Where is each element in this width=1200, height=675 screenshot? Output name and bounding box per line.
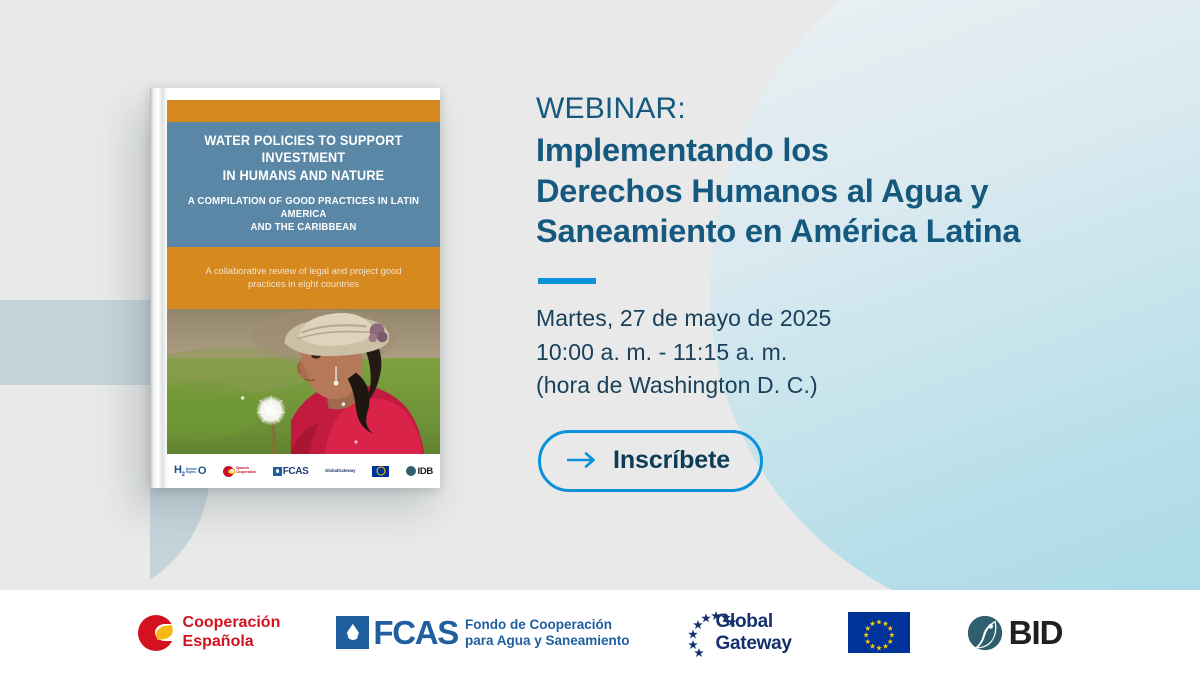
global-gateway-icon: Global Gateway bbox=[325, 469, 355, 474]
cover-title-line-2: IN HUMANS AND NATURE bbox=[185, 167, 423, 184]
cooperacion-espanola-logo: Cooperación Española bbox=[138, 614, 281, 651]
page-title: Implementando los Derechos Humanos al Ag… bbox=[536, 130, 1156, 253]
book-spine bbox=[150, 88, 167, 488]
webinar-kicker: WEBINAR: bbox=[536, 92, 1156, 126]
register-button[interactable]: Inscríbete bbox=[538, 430, 763, 492]
european-union-flag-icon bbox=[372, 466, 389, 477]
cooperacion-espanola-icon: Spanish Cooperation bbox=[223, 466, 256, 477]
event-timezone: (hora de Washington D. C.) bbox=[536, 369, 1156, 402]
fcas-icon: FCAS bbox=[273, 466, 309, 477]
content-column: WEBINAR: Implementando los Derechos Huma… bbox=[536, 92, 1156, 492]
fcas-tag-line-1: Fondo de Cooperación bbox=[465, 617, 612, 632]
h2o-tag-2: Rights bbox=[186, 470, 196, 474]
ce-mini-line-2: Cooperation bbox=[236, 470, 256, 474]
fcas-tag-line-2: para Agua y Saneamiento bbox=[465, 633, 630, 648]
book-mockup: WATER POLICIES TO SUPPORT INVESTMENT IN … bbox=[150, 88, 440, 488]
headline-line-2: Derechos Humanos al Agua y bbox=[536, 171, 1156, 212]
book-cover: WATER POLICIES TO SUPPORT INVESTMENT IN … bbox=[150, 88, 440, 488]
cover-top-white-strip bbox=[167, 88, 440, 100]
fcas-word: FCAS bbox=[373, 614, 458, 652]
bid-logo: BID bbox=[966, 614, 1063, 652]
gg-mini-line-2: Gateway bbox=[338, 469, 355, 474]
fcas-mini-word: FCAS bbox=[283, 466, 309, 477]
headline-line-1: Implementando los bbox=[536, 130, 1156, 171]
cover-orange-top-band bbox=[167, 100, 440, 122]
headline-line-3: Saneamiento en América Latina bbox=[536, 211, 1156, 252]
bid-mark-icon bbox=[966, 614, 1004, 652]
accent-divider bbox=[538, 278, 596, 284]
global-gateway-stars-icon bbox=[686, 611, 748, 657]
cover-logo-strip: H2 Human Rights O Spanish Cooperation bbox=[167, 454, 440, 488]
event-details: Martes, 27 de mayo de 2025 10:00 a. m. -… bbox=[536, 302, 1156, 401]
cooperacion-espanola-mark-icon bbox=[138, 615, 174, 651]
ce-line-1: Cooperación bbox=[183, 614, 281, 631]
event-time: 10:00 a. m. - 11:15 a. m. bbox=[536, 336, 1156, 369]
woman-with-dandelion-photo bbox=[167, 309, 440, 454]
webinar-promo-banner: WATER POLICIES TO SUPPORT INVESTMENT IN … bbox=[0, 0, 1200, 675]
ce-line-2: Española bbox=[183, 633, 254, 650]
global-gateway-logo: Global Gateway bbox=[686, 611, 792, 654]
footer-logo-bar: Cooperación Española FCAS Fondo de Coope… bbox=[0, 590, 1200, 675]
event-date: Martes, 27 de mayo de 2025 bbox=[536, 302, 1156, 335]
left-shape-cutout bbox=[0, 385, 150, 600]
fcas-droplet-icon bbox=[336, 616, 369, 649]
idb-icon: IDB bbox=[406, 466, 433, 477]
eu-flag-icon bbox=[848, 612, 910, 653]
cover-photo bbox=[167, 309, 440, 454]
arrow-right-icon bbox=[567, 451, 597, 469]
cover-description: A collaborative review of legal and proj… bbox=[167, 247, 440, 309]
bid-word: BID bbox=[1009, 614, 1063, 652]
european-union-flag bbox=[848, 612, 910, 653]
gg-mini-line-1: Global bbox=[325, 469, 338, 474]
cover-title-line-1: WATER POLICIES TO SUPPORT INVESTMENT bbox=[185, 132, 423, 167]
cover-subtitle-line-2: AND THE CARIBBEAN bbox=[185, 221, 423, 234]
idb-mini-word: IDB bbox=[418, 466, 433, 477]
register-button-label: Inscríbete bbox=[613, 446, 730, 475]
fcas-logo: FCAS Fondo de Cooperación para Agua y Sa… bbox=[336, 614, 629, 652]
h2o-human-rights-icon: H2 Human Rights O bbox=[174, 464, 206, 478]
cover-title-band: WATER POLICIES TO SUPPORT INVESTMENT IN … bbox=[167, 122, 440, 247]
cover-subtitle-line-1: A COMPILATION OF GOOD PRACTICES IN LATIN… bbox=[185, 195, 423, 222]
